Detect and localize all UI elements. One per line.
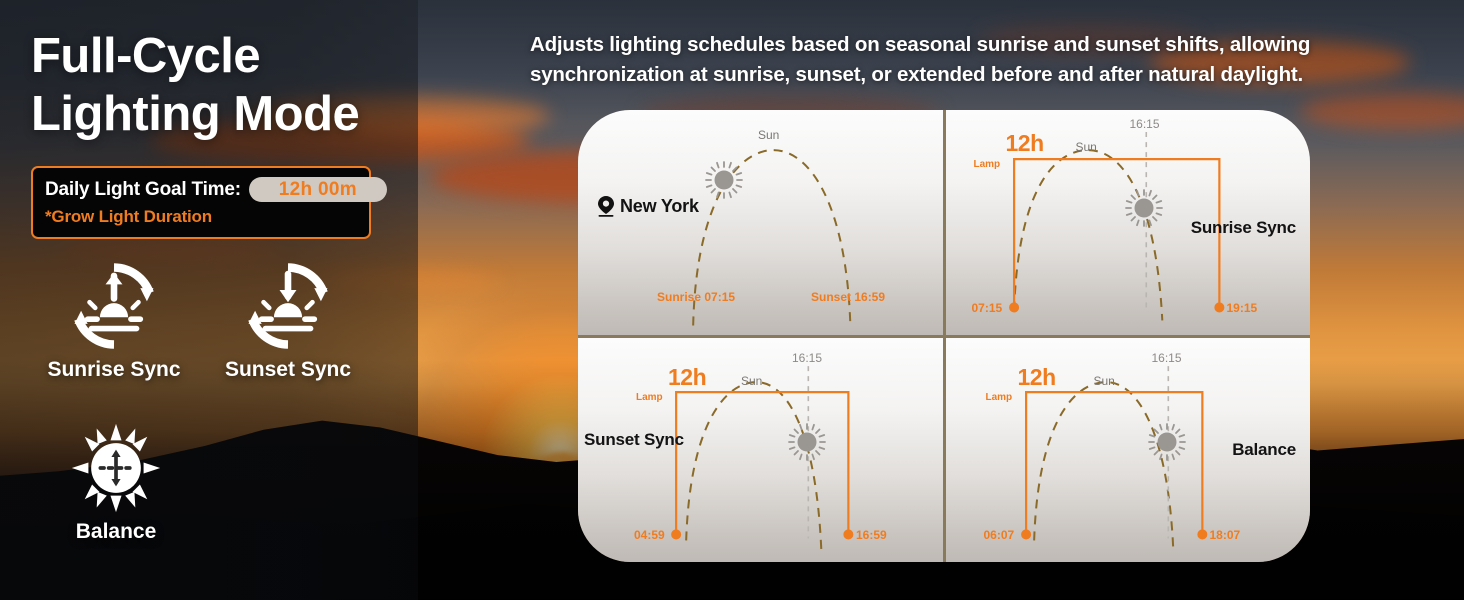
new-york-sun-arc <box>578 110 943 335</box>
description-line2: synchronization at sunrise, sunset, or e… <box>530 60 1430 90</box>
panel-title: New York <box>620 196 699 217</box>
chart-panel-sunrise-sync: 16:15 12h Sun Lamp 07:15 19:15 Sunrise S… <box>946 110 1311 335</box>
sunrise-annotation: Sunrise 07:15 <box>657 290 735 304</box>
sunset-sync-plot <box>578 338 943 563</box>
mode-label: Balance <box>31 520 201 544</box>
mode-label: Sunrise Sync <box>29 358 199 382</box>
lamp-on-time: 04:59 <box>634 528 665 542</box>
mode-balance[interactable]: Balance <box>31 420 201 544</box>
lighting-mode-diagram-card: New York Sun Sunrise 07:15 Sunset 16:59 … <box>578 110 1310 562</box>
lamp-off-time: 18:07 <box>1210 528 1241 542</box>
chart-panel-balance: 16:15 12h Sun Lamp 06:07 18:07 Balance <box>946 338 1311 563</box>
chart-panel-sunset-sync: 16:15 12h Sun Lamp 04:59 16:59 Sunset Sy… <box>578 338 943 563</box>
daily-light-goal-label: Daily Light Goal Time: <box>45 179 241 201</box>
sun-label: Sun <box>1094 374 1115 388</box>
mode-label: Sunset Sync <box>203 358 373 382</box>
sunset-annotation: Sunset 16:59 <box>811 290 885 304</box>
lamp-label: Lamp <box>986 392 1013 403</box>
duration-label: 12h <box>668 364 706 391</box>
chart-panel-new-york: New York Sun Sunrise 07:15 Sunset 16:59 <box>578 110 943 335</box>
sun-marker-icon <box>704 160 744 200</box>
sunset-sync-icon <box>203 258 373 354</box>
grow-light-duration-note: *Grow Light Duration <box>45 207 357 227</box>
left-panel: Full-Cycle Lighting Mode Daily Light Goa… <box>0 0 430 600</box>
lamp-on-time: 06:07 <box>984 528 1015 542</box>
page-title-line2: Lighting Mode <box>31 86 421 144</box>
lamp-label: Lamp <box>636 392 663 403</box>
page-title-line1: Full-Cycle <box>31 28 421 86</box>
duration-label: 12h <box>1018 364 1056 391</box>
mode-sunset-sync[interactable]: Sunset Sync <box>203 258 373 382</box>
sunrise-sync-icon <box>29 258 199 354</box>
panel-title: Sunrise Sync <box>1191 218 1296 238</box>
page-title: Full-Cycle Lighting Mode <box>31 28 421 144</box>
lamp-off-time: 19:15 <box>1227 301 1258 315</box>
balance-sun-icon <box>31 420 201 516</box>
daily-light-goal-box: Daily Light Goal Time: 12h 00m *Grow Lig… <box>31 166 371 239</box>
lamp-label: Lamp <box>974 159 1001 170</box>
sun-marker-icon <box>787 422 827 462</box>
description-text: Adjusts lighting schedules based on seas… <box>530 30 1430 89</box>
sun-marker-icon <box>1147 422 1187 462</box>
sun-marker-icon <box>1124 188 1164 228</box>
sun-label: Sun <box>758 128 779 142</box>
duration-label: 12h <box>1006 130 1044 157</box>
solar-noon-label: 16:15 <box>1152 351 1182 365</box>
description-line1: Adjusts lighting schedules based on seas… <box>530 30 1430 60</box>
lamp-off-time: 16:59 <box>856 528 887 542</box>
panel-title: Balance <box>1232 440 1296 460</box>
new-york-location: New York <box>596 195 699 217</box>
location-pin-icon <box>596 195 616 217</box>
sun-label: Sun <box>741 374 762 388</box>
solar-noon-label: 16:15 <box>1130 117 1160 131</box>
mode-sunrise-sync[interactable]: Sunrise Sync <box>29 258 199 382</box>
daily-light-goal-value[interactable]: 12h 00m <box>249 177 387 202</box>
solar-noon-label: 16:15 <box>792 351 822 365</box>
sun-label: Sun <box>1076 140 1097 154</box>
lamp-on-time: 07:15 <box>972 301 1003 315</box>
panel-title: Sunset Sync <box>584 430 684 450</box>
